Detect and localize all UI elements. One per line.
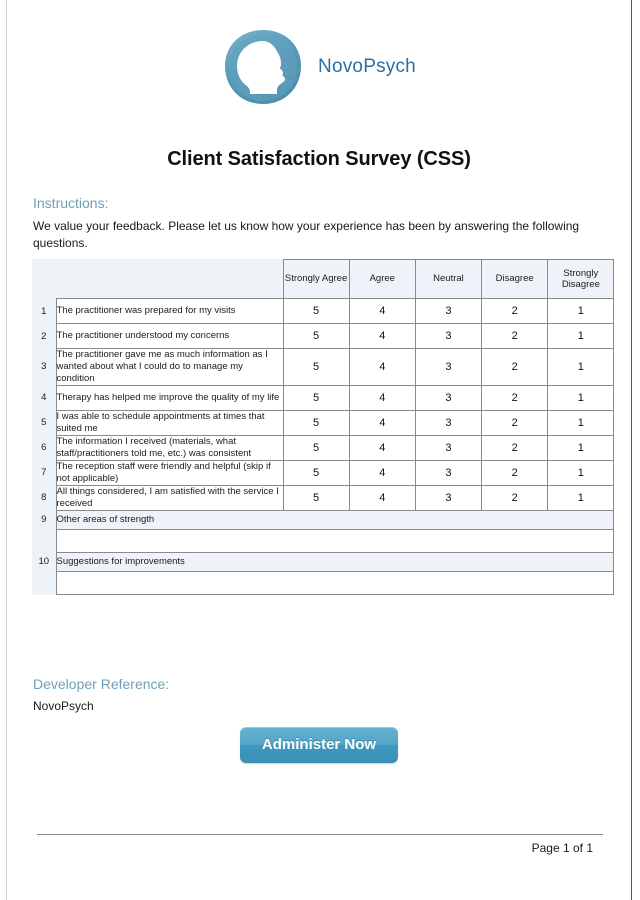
option-strongly-agree[interactable]: 5: [283, 435, 349, 460]
novopsych-head-ring-logo-icon: [222, 28, 304, 106]
item-text: Other areas of strength: [56, 510, 614, 529]
option-neutral[interactable]: 3: [415, 410, 481, 435]
option-neutral[interactable]: 3: [415, 324, 481, 349]
survey-table-container: Strongly Agree Agree Neutral Disagree St…: [32, 259, 614, 595]
option-disagree[interactable]: 2: [482, 410, 548, 435]
option-neutral[interactable]: 3: [415, 460, 481, 485]
option-agree[interactable]: 4: [349, 435, 415, 460]
table-row: [32, 571, 614, 594]
option-strongly-agree[interactable]: 5: [283, 349, 349, 386]
table-row: 5 I was able to schedule appointments at…: [32, 410, 614, 435]
developer-reference-heading: Developer Reference:: [33, 676, 593, 692]
instructions-body: We value your feedback. Please let us kn…: [33, 218, 593, 252]
item-number: 2: [32, 324, 56, 349]
item-number: 7: [32, 460, 56, 485]
item-number-spacer: [32, 529, 56, 552]
instructions-section: Instructions: We value your feedback. Pl…: [33, 195, 593, 252]
option-strongly-disagree[interactable]: 1: [548, 385, 614, 410]
item-text: I was able to schedule appointments at t…: [56, 410, 283, 435]
option-strongly-disagree[interactable]: 1: [548, 299, 614, 324]
footer-divider: [37, 834, 603, 835]
table-row: 6 The information I received (materials,…: [32, 435, 614, 460]
scale-header-neutral: Neutral: [415, 260, 481, 299]
brand-name: NovoPsych: [318, 56, 416, 78]
option-neutral[interactable]: 3: [415, 485, 481, 510]
option-disagree[interactable]: 2: [482, 349, 548, 386]
administer-now-button[interactable]: Administer Now: [240, 727, 398, 763]
item-text: The practitioner was prepared for my vis…: [56, 299, 283, 324]
document-page: NovoPsych Client Satisfaction Survey (CS…: [6, 0, 632, 900]
page-title: Client Satisfaction Survey (CSS): [7, 148, 631, 171]
brand-header: NovoPsych: [7, 28, 631, 106]
header-blank-item: [56, 260, 283, 299]
option-neutral[interactable]: 3: [415, 385, 481, 410]
item-text: The practitioner gave me as much informa…: [56, 349, 283, 386]
developer-reference-value: NovoPsych: [33, 699, 593, 713]
option-neutral[interactable]: 3: [415, 349, 481, 386]
scale-header-disagree: Disagree: [482, 260, 548, 299]
open-answer-field[interactable]: [56, 529, 614, 552]
option-strongly-disagree[interactable]: 1: [548, 324, 614, 349]
item-text: All things considered, I am satisfied wi…: [56, 485, 283, 510]
option-agree[interactable]: 4: [349, 299, 415, 324]
item-text: The information I received (materials, w…: [56, 435, 283, 460]
page-number-label: Page 1 of 1: [532, 841, 593, 855]
item-number: 4: [32, 385, 56, 410]
option-disagree[interactable]: 2: [482, 460, 548, 485]
item-text: The reception staff were friendly and he…: [56, 460, 283, 485]
option-agree[interactable]: 4: [349, 349, 415, 386]
table-row: 10 Suggestions for improvements: [32, 552, 614, 571]
item-text: Suggestions for improvements: [56, 552, 614, 571]
administer-button-container: Administer Now: [7, 727, 631, 763]
option-strongly-disagree[interactable]: 1: [548, 435, 614, 460]
option-disagree[interactable]: 2: [482, 385, 548, 410]
survey-header-row: Strongly Agree Agree Neutral Disagree St…: [32, 260, 614, 299]
scale-header-strongly-agree: Strongly Agree: [283, 260, 349, 299]
instructions-heading: Instructions:: [33, 195, 593, 211]
option-agree[interactable]: 4: [349, 410, 415, 435]
option-disagree[interactable]: 2: [482, 324, 548, 349]
survey-table: Strongly Agree Agree Neutral Disagree St…: [32, 259, 614, 595]
item-text: The practitioner understood my concerns: [56, 324, 283, 349]
item-number: 10: [32, 552, 56, 571]
open-answer-field[interactable]: [56, 571, 614, 594]
item-number-spacer: [32, 571, 56, 594]
option-strongly-disagree[interactable]: 1: [548, 460, 614, 485]
table-row: 7 The reception staff were friendly and …: [32, 460, 614, 485]
option-strongly-disagree[interactable]: 1: [548, 410, 614, 435]
option-strongly-agree[interactable]: 5: [283, 410, 349, 435]
item-text: Therapy has helped me improve the qualit…: [56, 385, 283, 410]
option-disagree[interactable]: 2: [482, 435, 548, 460]
table-row: [32, 529, 614, 552]
developer-reference-section: Developer Reference: NovoPsych: [33, 676, 593, 713]
scale-header-strongly-disagree: Strongly Disagree: [548, 260, 614, 299]
option-strongly-agree[interactable]: 5: [283, 460, 349, 485]
item-number: 1: [32, 299, 56, 324]
option-agree[interactable]: 4: [349, 485, 415, 510]
table-row: 2 The practitioner understood my concern…: [32, 324, 614, 349]
item-number: 9: [32, 510, 56, 529]
option-agree[interactable]: 4: [349, 324, 415, 349]
table-row: 4 Therapy has helped me improve the qual…: [32, 385, 614, 410]
option-disagree[interactable]: 2: [482, 485, 548, 510]
option-strongly-disagree[interactable]: 1: [548, 349, 614, 386]
option-agree[interactable]: 4: [349, 385, 415, 410]
table-row: 8 All things considered, I am satisfied …: [32, 485, 614, 510]
item-number: 3: [32, 349, 56, 386]
option-strongly-agree[interactable]: 5: [283, 299, 349, 324]
header-blank-number: [32, 260, 56, 299]
option-strongly-agree[interactable]: 5: [283, 385, 349, 410]
scale-header-agree: Agree: [349, 260, 415, 299]
option-strongly-agree[interactable]: 5: [283, 324, 349, 349]
option-strongly-disagree[interactable]: 1: [548, 485, 614, 510]
item-number: 6: [32, 435, 56, 460]
table-row: 1 The practitioner was prepared for my v…: [32, 299, 614, 324]
item-number: 5: [32, 410, 56, 435]
table-row: 3 The practitioner gave me as much infor…: [32, 349, 614, 386]
option-disagree[interactable]: 2: [482, 299, 548, 324]
item-number: 8: [32, 485, 56, 510]
option-strongly-agree[interactable]: 5: [283, 485, 349, 510]
option-agree[interactable]: 4: [349, 460, 415, 485]
option-neutral[interactable]: 3: [415, 435, 481, 460]
option-neutral[interactable]: 3: [415, 299, 481, 324]
table-row: 9 Other areas of strength: [32, 510, 614, 529]
